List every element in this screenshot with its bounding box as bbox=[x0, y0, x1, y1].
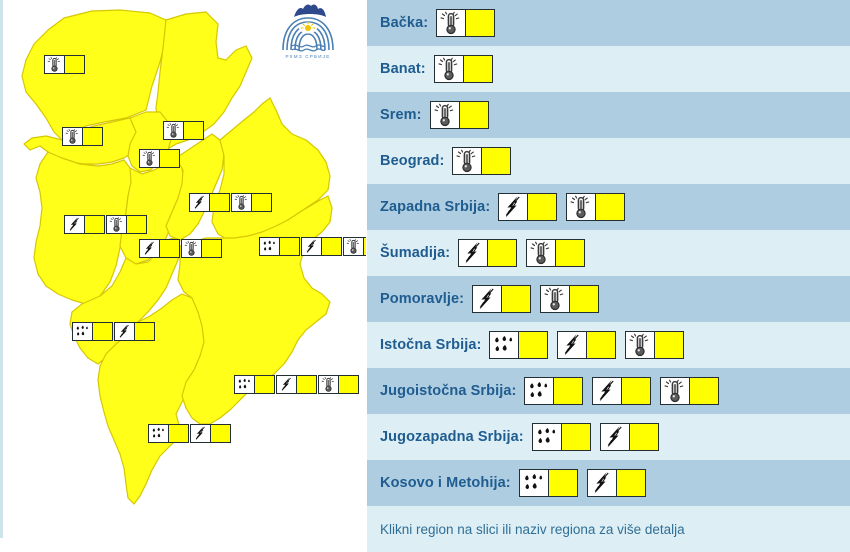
region-warning-icons bbox=[434, 55, 754, 83]
warning-level-swatch bbox=[459, 102, 488, 128]
warning-icon-lightning[interactable] bbox=[276, 375, 317, 394]
warning-icon-rain[interactable] bbox=[148, 424, 189, 443]
thermometer-heat-icon bbox=[107, 216, 126, 233]
warning-icon-rain[interactable] bbox=[519, 469, 578, 497]
warning-icon-lightning[interactable] bbox=[458, 239, 517, 267]
region-warning-icons bbox=[519, 469, 839, 497]
warning-level-swatch bbox=[82, 128, 102, 145]
warning-level-swatch bbox=[561, 424, 590, 450]
region-warning-icons bbox=[532, 423, 850, 451]
region-warning-icons bbox=[436, 9, 756, 37]
thermometer-heat-icon bbox=[45, 56, 64, 73]
warning-icon-thermometer[interactable] bbox=[343, 237, 366, 256]
warning-level-swatch bbox=[251, 194, 271, 211]
region-row-jugoistocna-srbija[interactable]: Jugoistočna Srbija: bbox=[367, 368, 850, 414]
map-badge-srem[interactable] bbox=[62, 127, 103, 146]
warning-icon-lightning[interactable] bbox=[139, 239, 180, 258]
warning-icon-thermometer[interactable] bbox=[660, 377, 719, 405]
region-row-sumadija[interactable]: Šumadija: bbox=[367, 230, 850, 276]
warning-icon-thermometer[interactable] bbox=[436, 9, 495, 37]
warning-icon-lightning[interactable] bbox=[301, 237, 342, 256]
thunderstorm-lightning-icon bbox=[140, 240, 159, 257]
warning-icon-lightning[interactable] bbox=[114, 322, 155, 341]
map-badge-beograd[interactable] bbox=[139, 149, 180, 168]
rain-shower-icon bbox=[490, 332, 518, 358]
warning-level-swatch bbox=[481, 148, 510, 174]
warning-level-swatch bbox=[183, 122, 203, 139]
map-badge-jugozapadna-srbija[interactable] bbox=[72, 322, 155, 341]
map-badge-banat[interactable] bbox=[163, 121, 204, 140]
region-warning-icons bbox=[498, 193, 818, 221]
region-label[interactable]: Zapadna Srbija: bbox=[380, 199, 490, 215]
map-badge-backa[interactable] bbox=[44, 55, 85, 74]
warning-level-swatch bbox=[465, 10, 494, 36]
region-warning-table-panel: Bačka:Banat:Srem:Beograd:Zapadna Srbija:… bbox=[366, 0, 850, 538]
region-warning-icons bbox=[524, 377, 844, 405]
warning-level-swatch bbox=[553, 378, 582, 404]
region-row-backa[interactable]: Bačka: bbox=[367, 0, 850, 46]
warning-level-swatch bbox=[201, 240, 221, 257]
warning-level-swatch bbox=[210, 425, 230, 442]
warning-icon-lightning[interactable] bbox=[190, 424, 231, 443]
warning-icon-lightning[interactable] bbox=[592, 377, 651, 405]
warning-icon-rain[interactable] bbox=[72, 322, 113, 341]
thunderstorm-lightning-icon bbox=[65, 216, 84, 233]
warning-icon-lightning[interactable] bbox=[587, 469, 646, 497]
warning-level-swatch bbox=[321, 238, 341, 255]
warning-level-swatch bbox=[548, 470, 577, 496]
warning-level-swatch bbox=[64, 56, 84, 73]
map-badge-kosovo-i-metohija[interactable] bbox=[148, 424, 231, 443]
region-label[interactable]: Jugozapadna Srbija: bbox=[380, 429, 524, 445]
map-badge-jugoistocna-srbija[interactable] bbox=[234, 375, 359, 394]
rain-shower-icon bbox=[260, 238, 279, 255]
serbia-warning-map-panel: РХМЗ СРБИЈЕ bbox=[0, 0, 366, 538]
warning-level-swatch bbox=[654, 332, 683, 358]
thermometer-heat-icon bbox=[626, 332, 654, 358]
warning-icon-lightning[interactable] bbox=[64, 215, 105, 234]
thermometer-heat-icon bbox=[453, 148, 481, 174]
warning-icon-thermometer[interactable] bbox=[434, 55, 493, 83]
region-row-banat[interactable]: Banat: bbox=[367, 46, 850, 92]
warning-level-swatch bbox=[621, 378, 650, 404]
warning-icon-rain[interactable] bbox=[489, 331, 548, 359]
thunderstorm-lightning-icon bbox=[558, 332, 586, 358]
thunderstorm-lightning-icon bbox=[601, 424, 629, 450]
map-badge-zapadna-srbija[interactable] bbox=[64, 215, 147, 234]
region-label[interactable]: Jugoistočna Srbija: bbox=[380, 383, 516, 399]
warning-level-swatch bbox=[527, 194, 556, 220]
warning-icon-thermometer[interactable] bbox=[231, 193, 272, 212]
region-row-kosovo-i-metohija[interactable]: Kosovo i Metohija: bbox=[367, 460, 850, 506]
region-warning-list: Bačka:Banat:Srem:Beograd:Zapadna Srbija:… bbox=[367, 0, 850, 506]
thermometer-heat-icon bbox=[63, 128, 82, 145]
thermometer-heat-icon bbox=[319, 376, 338, 393]
rain-shower-icon bbox=[525, 378, 553, 404]
rain-shower-icon bbox=[533, 424, 561, 450]
warning-level-swatch bbox=[279, 238, 299, 255]
map-badge-sumadija[interactable] bbox=[139, 239, 222, 258]
thermometer-heat-icon bbox=[164, 122, 183, 139]
warning-level-swatch bbox=[569, 286, 598, 312]
thunderstorm-lightning-icon bbox=[588, 470, 616, 496]
warning-level-swatch bbox=[586, 332, 615, 358]
region-row-istocna-srbija[interactable]: Istočna Srbija: bbox=[367, 322, 850, 368]
warning-icon-lightning[interactable] bbox=[472, 285, 531, 313]
warning-level-swatch bbox=[168, 425, 188, 442]
warning-icon-thermometer[interactable] bbox=[625, 331, 684, 359]
warning-level-swatch bbox=[501, 286, 530, 312]
warning-icon-thermometer[interactable] bbox=[139, 149, 180, 168]
serbia-regions-map[interactable] bbox=[0, 0, 366, 538]
warning-level-swatch bbox=[134, 323, 154, 340]
warning-level-swatch bbox=[296, 376, 316, 393]
warning-level-swatch bbox=[254, 376, 274, 393]
thunderstorm-lightning-icon bbox=[191, 425, 210, 442]
warning-icon-thermometer[interactable] bbox=[44, 55, 85, 74]
warning-icon-thermometer[interactable] bbox=[430, 101, 489, 129]
rain-shower-icon bbox=[149, 425, 168, 442]
thermometer-heat-icon bbox=[541, 286, 569, 312]
region-label[interactable]: Kosovo i Metohija: bbox=[380, 475, 511, 491]
rhmz-serbia-logo: РХМЗ СРБИЈЕ bbox=[277, 2, 339, 60]
thunderstorm-lightning-icon bbox=[593, 378, 621, 404]
thunderstorm-lightning-icon bbox=[473, 286, 501, 312]
warning-level-swatch bbox=[92, 323, 112, 340]
warning-icon-rain[interactable] bbox=[532, 423, 591, 451]
thermometer-heat-icon bbox=[182, 240, 201, 257]
warning-icon-lightning[interactable] bbox=[498, 193, 557, 221]
region-label[interactable]: Bačka: bbox=[380, 15, 428, 31]
warning-icon-thermometer[interactable] bbox=[181, 239, 222, 258]
warning-level-swatch bbox=[487, 240, 516, 266]
warning-icon-rain[interactable] bbox=[524, 377, 583, 405]
thunderstorm-lightning-icon bbox=[499, 194, 527, 220]
region-row-jugozapadna-srbija[interactable]: Jugozapadna Srbija: bbox=[367, 414, 850, 460]
warning-level-swatch bbox=[338, 376, 358, 393]
thermometer-heat-icon bbox=[661, 378, 689, 404]
thunderstorm-lightning-icon bbox=[115, 323, 134, 340]
map-badge-pomoravlje-map[interactable] bbox=[189, 193, 272, 212]
warning-icon-thermometer[interactable] bbox=[540, 285, 599, 313]
map-hint-note: Klikni region na slici ili naziv regiona… bbox=[367, 506, 850, 552]
thunderstorm-lightning-icon bbox=[459, 240, 487, 266]
rain-shower-icon bbox=[520, 470, 548, 496]
thermometer-heat-icon bbox=[232, 194, 251, 211]
warning-icon-thermometer[interactable] bbox=[62, 127, 103, 146]
thermometer-heat-icon bbox=[567, 194, 595, 220]
thunderstorm-lightning-icon bbox=[277, 376, 296, 393]
warning-icon-lightning[interactable] bbox=[600, 423, 659, 451]
region-label[interactable]: Istočna Srbija: bbox=[380, 337, 481, 353]
warning-level-swatch bbox=[629, 424, 658, 450]
warning-icon-thermometer[interactable] bbox=[106, 215, 147, 234]
region-warning-icons bbox=[430, 101, 750, 129]
rain-shower-icon bbox=[73, 323, 92, 340]
thermometer-heat-icon bbox=[140, 150, 159, 167]
warning-level-swatch bbox=[159, 150, 179, 167]
warning-icon-rain[interactable] bbox=[259, 237, 300, 256]
thermometer-heat-icon bbox=[344, 238, 363, 255]
footer-holder: Klikni region na slici ili naziv regiona… bbox=[367, 506, 850, 552]
map-badge-istocna-srbija[interactable] bbox=[259, 237, 366, 256]
region-label[interactable]: Beograd: bbox=[380, 153, 444, 169]
warning-level-swatch bbox=[126, 216, 146, 233]
region-warning-icons bbox=[489, 331, 809, 359]
region-row-zapadna-srbija[interactable]: Zapadna Srbija: bbox=[367, 184, 850, 230]
region-row-beograd[interactable]: Beograd: bbox=[367, 138, 850, 184]
region-row-srem[interactable]: Srem: bbox=[367, 92, 850, 138]
warning-level-swatch bbox=[84, 216, 104, 233]
logo-caption: РХМЗ СРБИЈЕ bbox=[285, 54, 330, 59]
warning-icon-thermometer[interactable] bbox=[163, 121, 204, 140]
warning-level-swatch bbox=[555, 240, 584, 266]
warning-icon-rain[interactable] bbox=[234, 375, 275, 394]
region-warning-icons bbox=[458, 239, 778, 267]
warning-level-swatch bbox=[209, 194, 229, 211]
warning-level-swatch bbox=[689, 378, 718, 404]
thermometer-heat-icon bbox=[431, 102, 459, 128]
region-label[interactable]: Pomoravlje: bbox=[380, 291, 464, 307]
warning-level-swatch bbox=[595, 194, 624, 220]
region-label[interactable]: Banat: bbox=[380, 61, 426, 77]
region-row-pomoravlje[interactable]: Pomoravlje: bbox=[367, 276, 850, 322]
warning-icon-thermometer[interactable] bbox=[526, 239, 585, 267]
rain-shower-icon bbox=[235, 376, 254, 393]
warning-level-swatch bbox=[463, 56, 492, 82]
warning-level-swatch bbox=[159, 240, 179, 257]
warning-level-swatch bbox=[518, 332, 547, 358]
warning-level-swatch bbox=[616, 470, 645, 496]
region-label[interactable]: Srem: bbox=[380, 107, 422, 123]
region-label[interactable]: Šumadija: bbox=[380, 245, 450, 261]
thunderstorm-lightning-icon bbox=[190, 194, 209, 211]
warning-icon-thermometer[interactable] bbox=[318, 375, 359, 394]
warning-icon-thermometer[interactable] bbox=[566, 193, 625, 221]
region-warning-icons bbox=[472, 285, 792, 313]
warning-icon-lightning[interactable] bbox=[557, 331, 616, 359]
warning-icon-thermometer[interactable] bbox=[452, 147, 511, 175]
thermometer-heat-icon bbox=[527, 240, 555, 266]
thermometer-heat-icon bbox=[435, 56, 463, 82]
region-warning-icons bbox=[452, 147, 772, 175]
thunderstorm-lightning-icon bbox=[302, 238, 321, 255]
thermometer-heat-icon bbox=[437, 10, 465, 36]
weather-warning-page: РХМЗ СРБИЈЕ Bačka:Banat:Srem:Beograd:Zap… bbox=[0, 0, 850, 538]
warning-icon-lightning[interactable] bbox=[189, 193, 230, 212]
